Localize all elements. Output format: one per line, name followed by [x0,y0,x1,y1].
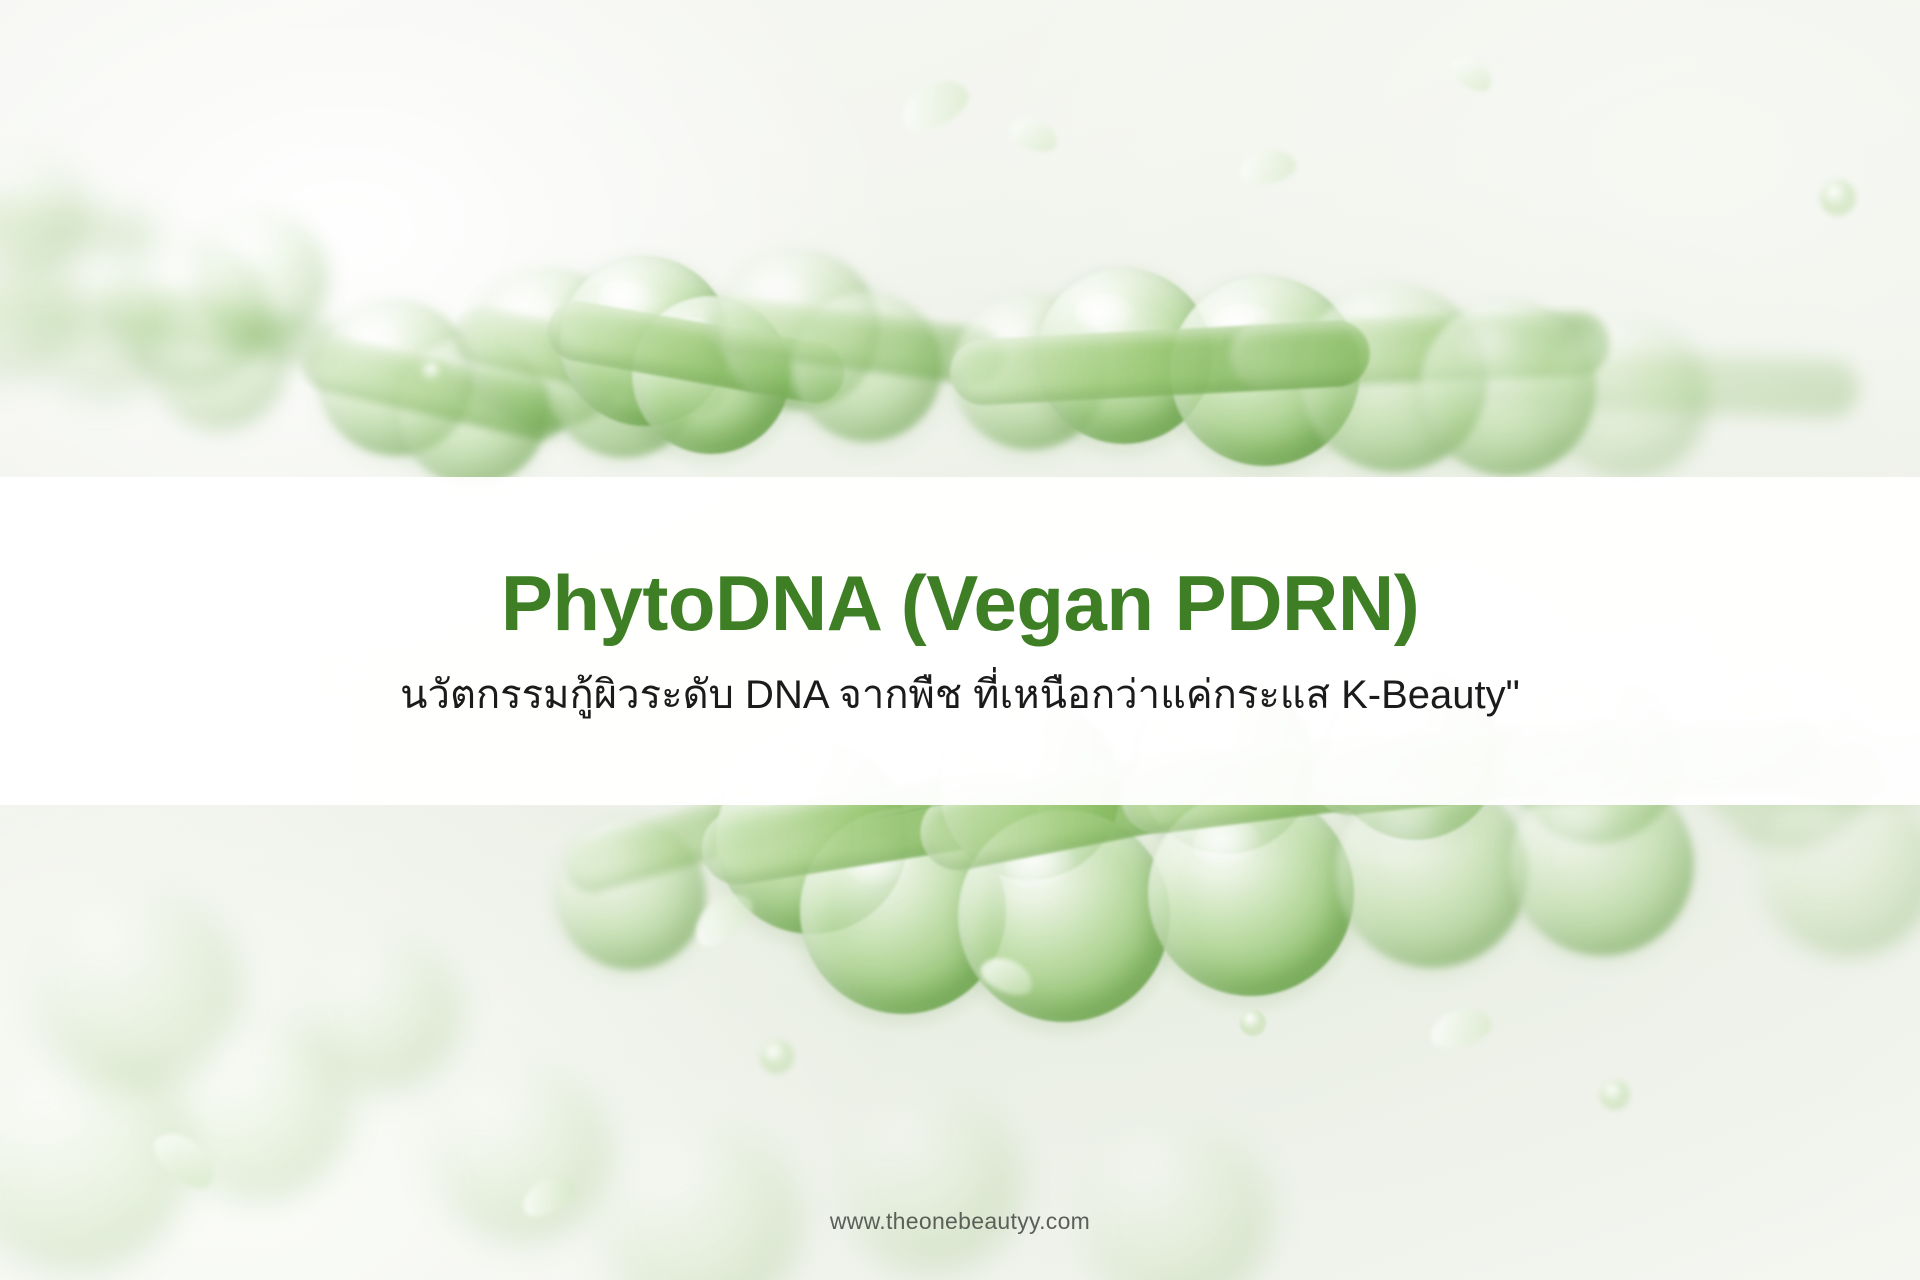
hero-banner-page: PhytoDNA (Vegan PDRN) นวัตกรรมกู้ผิวระดั… [0,0,1920,1280]
page-subtitle: นวัตกรรมกู้ผิวระดับ DNA จากพืช ที่เหนือก… [400,670,1520,720]
footer-website-url[interactable]: www.theonebeautyy.com [0,1208,1920,1235]
page-title: PhytoDNA (Vegan PDRN) [501,562,1419,645]
headline-banner: PhytoDNA (Vegan PDRN) นวัตกรรมกู้ผิวระดั… [0,477,1920,805]
